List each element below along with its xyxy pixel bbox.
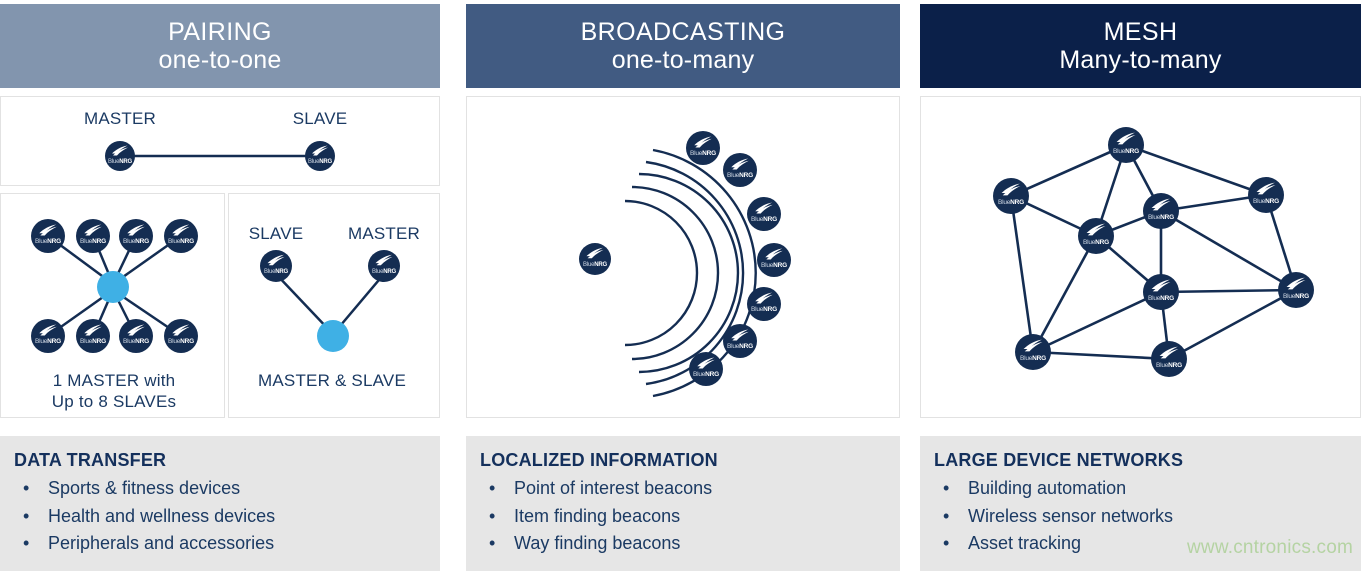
pairing-header-subtitle: one-to-one: [159, 46, 282, 74]
bluenrg-wing-icon: [172, 324, 191, 336]
broadcasting-info-list: •Point of interest beacons •Item finding…: [480, 475, 900, 558]
broadcast-receiver-node: BlueNRG: [747, 287, 781, 321]
bluenrg-wing-icon: [172, 224, 191, 236]
list-item-label: Item finding beacons: [514, 506, 680, 526]
list-item-label: Sports & fitness devices: [48, 478, 240, 498]
bullet-icon: •: [489, 475, 495, 503]
pairing-star-box: BlueNRG BlueNRG BlueNRG BlueNRG BlueNRG …: [0, 193, 225, 418]
node-label: BlueNRG: [1078, 240, 1114, 247]
bluenrg-wing-icon: [1001, 183, 1021, 196]
device-node: BlueNRG: [368, 250, 400, 282]
bluenrg-wing-icon: [765, 248, 784, 260]
device-node: BlueNRG: [119, 219, 153, 253]
list-item: •Peripherals and accessories: [14, 530, 440, 558]
pairing-star-caption-line2: Up to 8 SLAVEs: [52, 392, 176, 412]
bluenrg-wing-icon: [1086, 223, 1106, 236]
mesh-node: BlueNRG: [1143, 193, 1179, 229]
bluenrg-wing-icon: [694, 136, 713, 148]
device-node: BlueNRG: [305, 141, 335, 171]
bluenrg-wing-icon: [755, 292, 774, 304]
column-broadcasting: BROADCASTING one-to-many BlueNRG BlueNR: [466, 0, 900, 571]
node-label: BlueNRG: [1143, 215, 1179, 222]
broadcasting-info-box: LOCALIZED INFORMATION •Point of interest…: [466, 436, 900, 571]
pairing-info-box: DATA TRANSFER •Sports & fitness devices …: [0, 436, 440, 571]
node-label: BlueNRG: [723, 344, 757, 351]
mesh-info-box: LARGE DEVICE NETWORKS •Building automati…: [920, 436, 1361, 571]
list-item-label: Health and wellness devices: [48, 506, 275, 526]
device-node: BlueNRG: [76, 319, 110, 353]
node-label: BlueNRG: [747, 217, 781, 224]
bullet-icon: •: [23, 530, 29, 558]
bluenrg-wing-icon: [586, 247, 604, 259]
device-node: BlueNRG: [76, 219, 110, 253]
bluenrg-wing-icon: [1023, 339, 1043, 352]
pairing-info-title: DATA TRANSFER: [14, 450, 440, 471]
list-item: •Wireless sensor networks: [934, 503, 1361, 531]
bluenrg-wing-icon: [1116, 132, 1136, 145]
mesh-node: BlueNRG: [1151, 341, 1187, 377]
node-label: BlueNRG: [1143, 296, 1179, 303]
device-node: BlueNRG: [164, 219, 198, 253]
site-watermark: www.cntronics.com: [1187, 537, 1353, 559]
broadcasting-header-banner: BROADCASTING one-to-many: [466, 4, 900, 88]
node-label: BlueNRG: [119, 239, 153, 246]
node-label: BlueNRG: [1015, 356, 1051, 363]
mesh-node: BlueNRG: [1278, 272, 1314, 308]
node-label: BlueNRG: [757, 263, 791, 270]
master-slave-hub: [317, 320, 349, 352]
node-label: BlueNRG: [686, 151, 720, 158]
bluenrg-wing-icon: [267, 254, 285, 266]
column-mesh: MESH Many-to-many: [920, 0, 1361, 571]
node-label: BlueNRG: [723, 173, 757, 180]
bluenrg-wing-icon: [84, 224, 103, 236]
broadcast-receiver-node: BlueNRG: [686, 131, 720, 165]
node-label: BlueNRG: [164, 339, 198, 346]
bluenrg-wing-icon: [39, 224, 58, 236]
pairing-link-wires: [1, 97, 441, 187]
list-item: •Sports & fitness devices: [14, 475, 440, 503]
node-label: BlueNRG: [689, 372, 723, 379]
broadcast-source-node: BlueNRG: [579, 243, 611, 275]
column-pairing: PAIRING one-to-one MASTER SLAVE BlueNRG: [0, 0, 440, 571]
bluenrg-wing-icon: [731, 329, 750, 341]
pairing-star-caption-line1: 1 MASTER with: [53, 371, 176, 391]
bluenrg-wing-icon: [697, 357, 716, 369]
bullet-icon: •: [943, 530, 949, 558]
bluenrg-wing-icon: [312, 145, 329, 156]
bluenrg-wing-icon: [731, 158, 750, 170]
node-label: BlueNRG: [31, 239, 65, 246]
mesh-node: BlueNRG: [1015, 334, 1051, 370]
broadcast-wave-arcs: [467, 97, 901, 419]
list-item-label: Peripherals and accessories: [48, 533, 274, 553]
topology-infographic: PAIRING one-to-one MASTER SLAVE BlueNRG: [0, 0, 1361, 571]
bluenrg-wing-icon: [1151, 279, 1171, 292]
bluenrg-wing-icon: [84, 324, 103, 336]
node-label: BlueNRG: [119, 339, 153, 346]
mesh-node: BlueNRG: [1143, 274, 1179, 310]
device-node: BlueNRG: [119, 319, 153, 353]
bluenrg-wing-icon: [112, 145, 129, 156]
mesh-node: BlueNRG: [1078, 218, 1114, 254]
list-item-label: Building automation: [968, 478, 1126, 498]
pairing-master-slave-caption: MASTER & SLAVE: [258, 371, 406, 391]
bluenrg-wing-icon: [127, 324, 146, 336]
list-item: •Way finding beacons: [480, 530, 900, 558]
list-item-label: Point of interest beacons: [514, 478, 712, 498]
node-label: BlueNRG: [260, 269, 292, 275]
bullet-icon: •: [23, 503, 29, 531]
list-item: •Health and wellness devices: [14, 503, 440, 531]
pairing-one-to-one-box: MASTER SLAVE BlueNRG BlueNRG: [0, 96, 440, 186]
bluenrg-wing-icon: [1286, 277, 1306, 290]
broadcasting-header-title: BROADCASTING: [581, 18, 786, 46]
mesh-header-banner: MESH Many-to-many: [920, 4, 1361, 88]
bluenrg-wing-icon: [755, 202, 774, 214]
pairing-header-banner: PAIRING one-to-one: [0, 4, 440, 88]
list-item-label: Asset tracking: [968, 533, 1081, 553]
node-label: BlueNRG: [31, 339, 65, 346]
broadcast-receiver-node: BlueNRG: [689, 352, 723, 386]
master-hub: [97, 271, 129, 303]
node-label: BlueNRG: [1248, 199, 1284, 206]
bullet-icon: •: [23, 475, 29, 503]
mesh-header-title: MESH: [1104, 18, 1178, 46]
list-item-label: Way finding beacons: [514, 533, 680, 553]
bluenrg-wing-icon: [1159, 346, 1179, 359]
device-node: BlueNRG: [31, 319, 65, 353]
pairing-master-slave-box: SLAVE MASTER BlueNRG BlueNRG MASTER & SL…: [228, 193, 440, 418]
mesh-header-subtitle: Many-to-many: [1059, 46, 1221, 74]
pairing-info-list: •Sports & fitness devices •Health and we…: [14, 475, 440, 558]
broadcast-receiver-node: BlueNRG: [723, 324, 757, 358]
mesh-node: BlueNRG: [1108, 127, 1144, 163]
node-label: BlueNRG: [164, 239, 198, 246]
node-label: BlueNRG: [76, 339, 110, 346]
node-label: BlueNRG: [993, 200, 1029, 207]
bluenrg-wing-icon: [127, 224, 146, 236]
broadcasting-header-subtitle: one-to-many: [612, 46, 755, 74]
broadcasting-info-title: LOCALIZED INFORMATION: [480, 450, 900, 471]
broadcast-receiver-node: BlueNRG: [757, 243, 791, 277]
bullet-icon: •: [943, 475, 949, 503]
node-label: BlueNRG: [1151, 363, 1187, 370]
node-label: BlueNRG: [747, 307, 781, 314]
device-node: BlueNRG: [31, 219, 65, 253]
bullet-icon: •: [489, 503, 495, 531]
device-node: BlueNRG: [164, 319, 198, 353]
bluenrg-wing-icon: [39, 324, 58, 336]
list-item: •Point of interest beacons: [480, 475, 900, 503]
bluenrg-wing-icon: [1151, 198, 1171, 211]
mesh-node: BlueNRG: [1248, 177, 1284, 213]
mesh-node: BlueNRG: [993, 178, 1029, 214]
node-label: BlueNRG: [305, 159, 335, 165]
device-node: BlueNRG: [260, 250, 292, 282]
broadcasting-diagram-box: BlueNRG BlueNRG BlueNRG BlueNRG BlueNRG …: [466, 96, 900, 418]
bullet-icon: •: [943, 503, 949, 531]
node-label: BlueNRG: [579, 262, 611, 268]
node-label: BlueNRG: [76, 239, 110, 246]
device-node: BlueNRG: [105, 141, 135, 171]
broadcast-receiver-node: BlueNRG: [747, 197, 781, 231]
node-label: BlueNRG: [1278, 294, 1314, 301]
mesh-diagram-box: BlueNRG BlueNRG BlueNRG BlueNRG BlueNRG …: [920, 96, 1361, 418]
node-label: BlueNRG: [1108, 149, 1144, 156]
list-item: •Item finding beacons: [480, 503, 900, 531]
list-item: •Building automation: [934, 475, 1361, 503]
bluenrg-wing-icon: [375, 254, 393, 266]
broadcast-receiver-node: BlueNRG: [723, 153, 757, 187]
list-item-label: Wireless sensor networks: [968, 506, 1173, 526]
bullet-icon: •: [489, 530, 495, 558]
pairing-header-title: PAIRING: [168, 18, 272, 46]
mesh-info-title: LARGE DEVICE NETWORKS: [934, 450, 1361, 471]
bluenrg-wing-icon: [1256, 182, 1276, 195]
node-label: BlueNRG: [368, 269, 400, 275]
node-label: BlueNRG: [105, 159, 135, 165]
